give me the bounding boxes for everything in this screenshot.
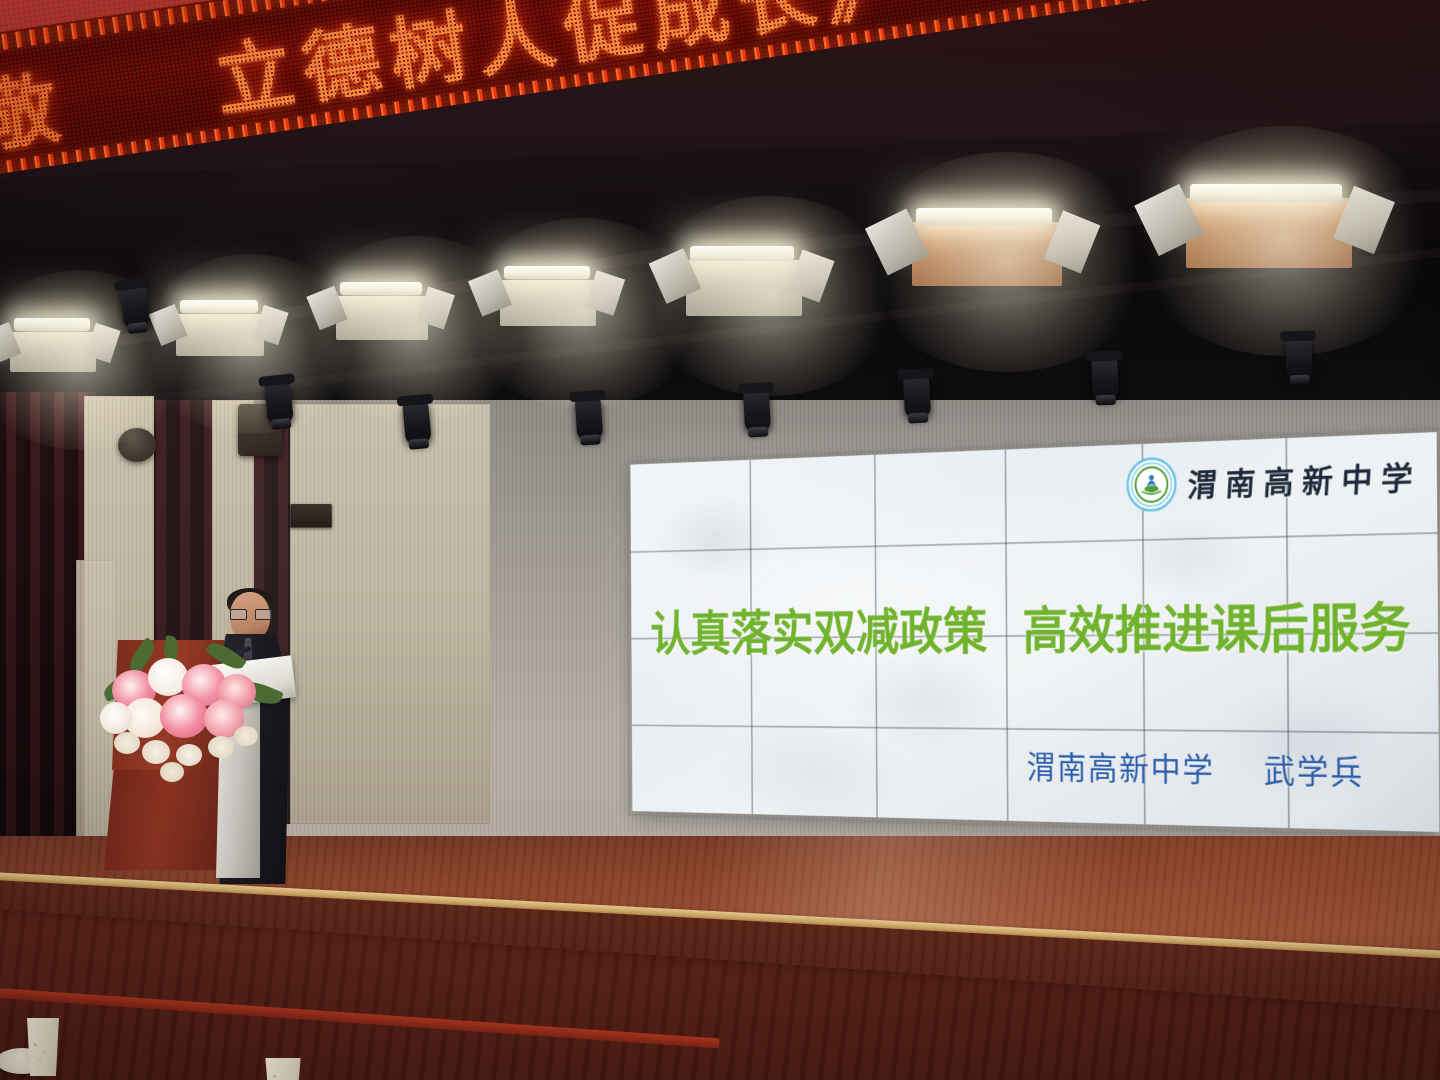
flower-filler xyxy=(160,762,184,782)
light-lamp xyxy=(690,246,794,261)
screen-surface: 渭南高新中学 认真落实双减政策高效推进课后服务 渭南高新中学武学兵 xyxy=(630,432,1439,832)
slide-title-part-1: 认真落实双减政策 xyxy=(650,603,987,662)
moving-head-fixture xyxy=(1285,338,1312,381)
wall-acoustic-panel xyxy=(290,404,490,824)
moving-head-fixture xyxy=(1091,358,1118,401)
slide-footer-school: 渭南高新中学 xyxy=(1027,750,1215,791)
panel-seam-horizontal xyxy=(632,724,1439,734)
light-housing xyxy=(10,332,96,372)
cup-pattern xyxy=(24,1018,62,1076)
light-housing xyxy=(1186,198,1352,268)
flower-filler xyxy=(142,740,170,764)
light-housing xyxy=(500,280,596,326)
light-lamp xyxy=(916,208,1052,225)
wall-vent-panel xyxy=(290,504,332,528)
paper-cup xyxy=(262,1058,304,1080)
light-lamp xyxy=(14,318,90,331)
slide-school-name: 渭南高新中学 xyxy=(1186,452,1422,507)
moving-head-fixture xyxy=(743,389,771,432)
light-housing xyxy=(686,260,802,316)
light-lamp xyxy=(504,266,590,279)
flower-blossom-pink xyxy=(160,694,208,738)
wall-clock xyxy=(118,428,156,462)
moving-head-fixture xyxy=(402,401,432,445)
slide-footer: 渭南高新中学武学兵 xyxy=(1027,742,1365,794)
light-housing xyxy=(336,296,428,340)
moving-head-fixture xyxy=(575,397,604,441)
moving-head-fixture xyxy=(120,285,151,330)
school-crest-icon xyxy=(1126,456,1177,513)
slide-logo-block: 渭南高新中学 xyxy=(1126,447,1422,513)
flower-filler xyxy=(114,732,140,754)
flower-blossom-white xyxy=(100,702,132,734)
panel-seam-horizontal xyxy=(631,532,1437,553)
flower-arrangement xyxy=(98,640,284,790)
cup-pattern xyxy=(262,1058,304,1080)
flower-filler xyxy=(234,726,258,746)
light-lamp xyxy=(1190,184,1342,202)
paper-cup xyxy=(24,1018,62,1076)
light-housing xyxy=(912,222,1062,286)
light-housing xyxy=(176,314,264,356)
light-lamp xyxy=(340,282,422,295)
moving-head-fixture xyxy=(903,375,931,418)
flower-filler xyxy=(208,736,234,758)
auditorium-stage-photo: 敬 立德树人促成长》 2021 xyxy=(0,0,1440,1080)
slide-main-title: 认真落实双减政策高效推进课后服务 xyxy=(650,584,1419,664)
light-lamp xyxy=(180,300,258,313)
led-banner-spacer xyxy=(67,78,215,100)
led-banner-partial-char: 敬 xyxy=(0,45,75,169)
slide-title-part-2: 高效推进课后服务 xyxy=(1022,597,1411,661)
flower-filler xyxy=(176,744,202,766)
speaker-glasses-icon xyxy=(230,609,270,618)
slide-footer-presenter: 武学兵 xyxy=(1264,753,1365,794)
presentation-video-wall[interactable]: 渭南高新中学 认真落实双减政策高效推进课后服务 渭南高新中学武学兵 xyxy=(630,432,1439,832)
moving-head-fixture xyxy=(264,381,294,425)
